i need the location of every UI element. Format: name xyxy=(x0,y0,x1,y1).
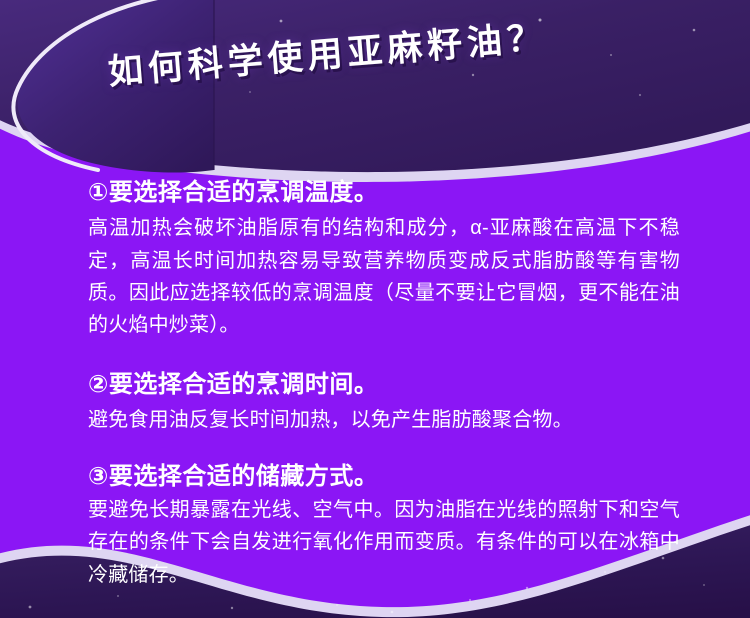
content-area: ①要选择合适的烹调温度。 高温加热会破坏油脂原有的结构和成分，α-亚麻酸在高温下… xyxy=(88,176,680,591)
poster-root: 如何科学使用亚麻籽油？ ①要选择合适的烹调温度。 高温加热会破坏油脂原有的结构和… xyxy=(0,0,750,618)
section-cooking-temperature: ①要选择合适的烹调温度。 高温加热会破坏油脂原有的结构和成分，α-亚麻酸在高温下… xyxy=(88,176,680,342)
section-heading-3: ③要选择合适的储藏方式。 xyxy=(88,460,680,493)
section-storage-method: ③要选择合适的储藏方式。 要避免长期暴露在光线、空气中。因为油脂在光线的照射下和… xyxy=(88,460,680,591)
section-heading-2: ②要选择合适的烹调时间。 xyxy=(88,368,680,401)
section-body-3: 要避免长期暴露在光线、空气中。因为油脂在光线的照射下和空气存在的条件下会自发进行… xyxy=(88,494,680,591)
section-cooking-time: ②要选择合适的烹调时间。 避免食用油反复长时间加热，以免产生脂肪酸聚合物。 xyxy=(88,368,680,436)
section-heading-1: ①要选择合适的烹调温度。 xyxy=(88,176,680,209)
section-body-2: 避免食用油反复长时间加热，以免产生脂肪酸聚合物。 xyxy=(88,405,680,436)
section-body-1: 高温加热会破坏油脂原有的结构和成分，α-亚麻酸在高温下不稳定，高温长时间加热容易… xyxy=(88,212,680,342)
